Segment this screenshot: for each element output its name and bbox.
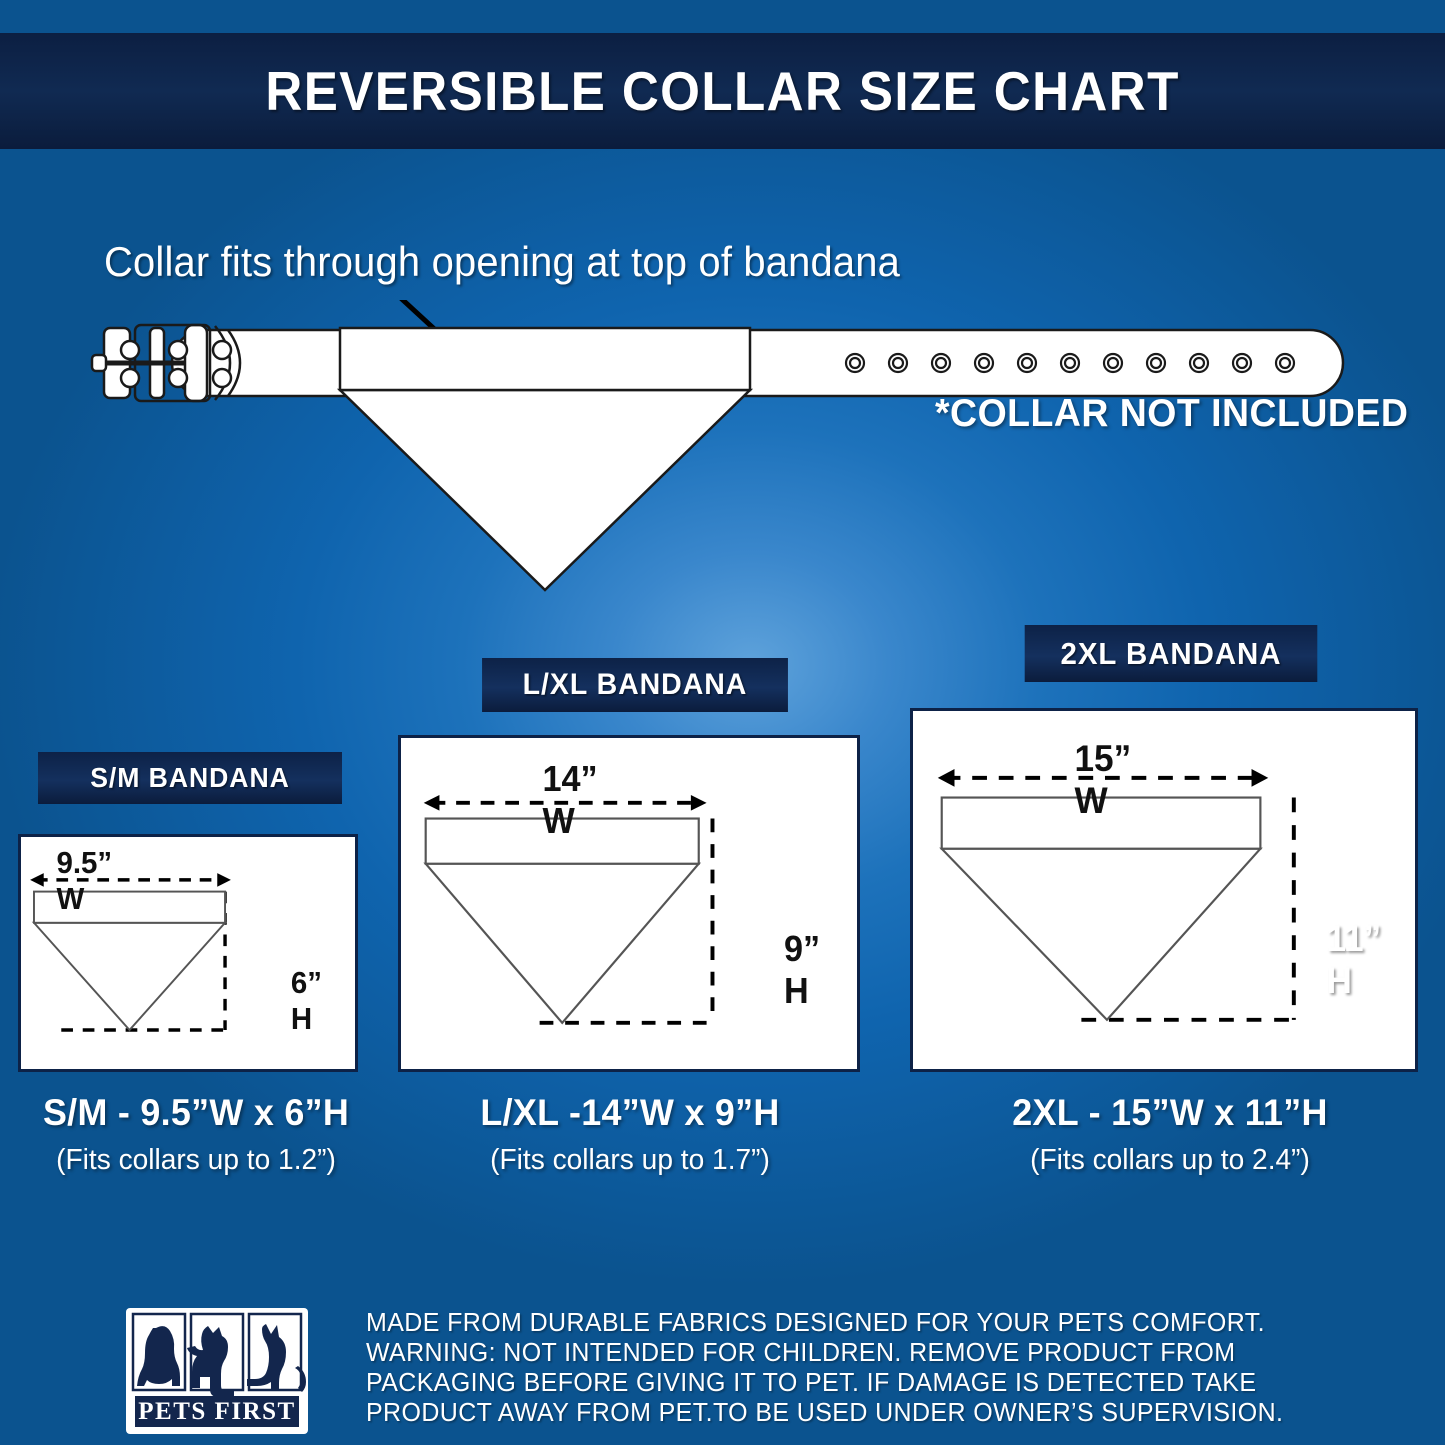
size-caption-main-xxl: 2XL - 15”W x 11”H [961,1092,1378,1134]
height-label-lxl: 9” H [784,928,820,1012]
size-card-xxl [910,708,1418,1072]
footer-line-1: MADE FROM DURABLE FABRICS DESIGNED FOR Y… [366,1308,1336,1338]
size-caption-main-lxl: L/XL -14”W x 9”H [436,1092,824,1134]
width-label-lxl: 14” W [542,758,597,842]
width-label-sm: 9.5” W [56,845,112,917]
footer-warning-text: MADE FROM DURABLE FABRICS DESIGNED FOR Y… [366,1308,1336,1428]
size-panel-label-lxl: L/XL BANDANA [482,658,788,712]
size-caption-xxl: 2XL - 15”W x 11”H (Fits collars up to 2.… [955,1092,1385,1177]
header-bar: REVERSIBLE COLLAR SIZE CHART [0,33,1445,149]
page-title: REVERSIBLE COLLAR SIZE CHART [265,59,1179,123]
footer-line-4: PRODUCT AWAY FROM PET.TO BE USED UNDER O… [366,1398,1336,1428]
height-label-xxl: 11” H [1326,918,1381,1002]
height-label-sm: 6” H [291,965,322,1037]
size-caption-sub-sm: (Fits collars up to 1.2”) [6,1144,386,1177]
size-caption-main-sm: S/M - 9.5”W x 6”H [6,1092,386,1134]
size-card-lxl [398,735,860,1072]
footer-line-3: PACKAGING BEFORE GIVING IT TO PET. IF DA… [366,1368,1336,1398]
size-caption-sub-xxl: (Fits collars up to 2.4”) [961,1144,1378,1177]
bandana-diagram-xxl [913,711,1415,1069]
collar-caption: Collar fits through opening at top of ba… [104,238,1111,286]
size-panel-label-xxl: 2XL BANDANA [1025,625,1318,682]
size-chart-infographic: REVERSIBLE COLLAR SIZE CHART Collar fits… [0,0,1445,1445]
size-caption-sm: S/M - 9.5”W x 6”H (Fits collars up to 1.… [0,1092,392,1177]
width-label-xxl: 15” W [1074,738,1131,822]
collar-bandana-illustration [0,300,1445,630]
size-caption-lxl: L/XL -14”W x 9”H (Fits collars up to 1.7… [430,1092,830,1177]
size-caption-sub-lxl: (Fits collars up to 1.7”) [436,1144,824,1177]
footer-line-2: WARNING: NOT INTENDED FOR CHILDREN. REMO… [366,1338,1336,1368]
bandana-opening-band [340,328,750,390]
pets-first-logo: PETS FIRST [126,1308,308,1434]
bandana-shape [340,328,750,590]
bandana-diagram-lxl [401,738,857,1069]
size-panel-label-sm: S/M BANDANA [38,752,342,804]
logo-wordmark: PETS FIRST [138,1398,295,1425]
